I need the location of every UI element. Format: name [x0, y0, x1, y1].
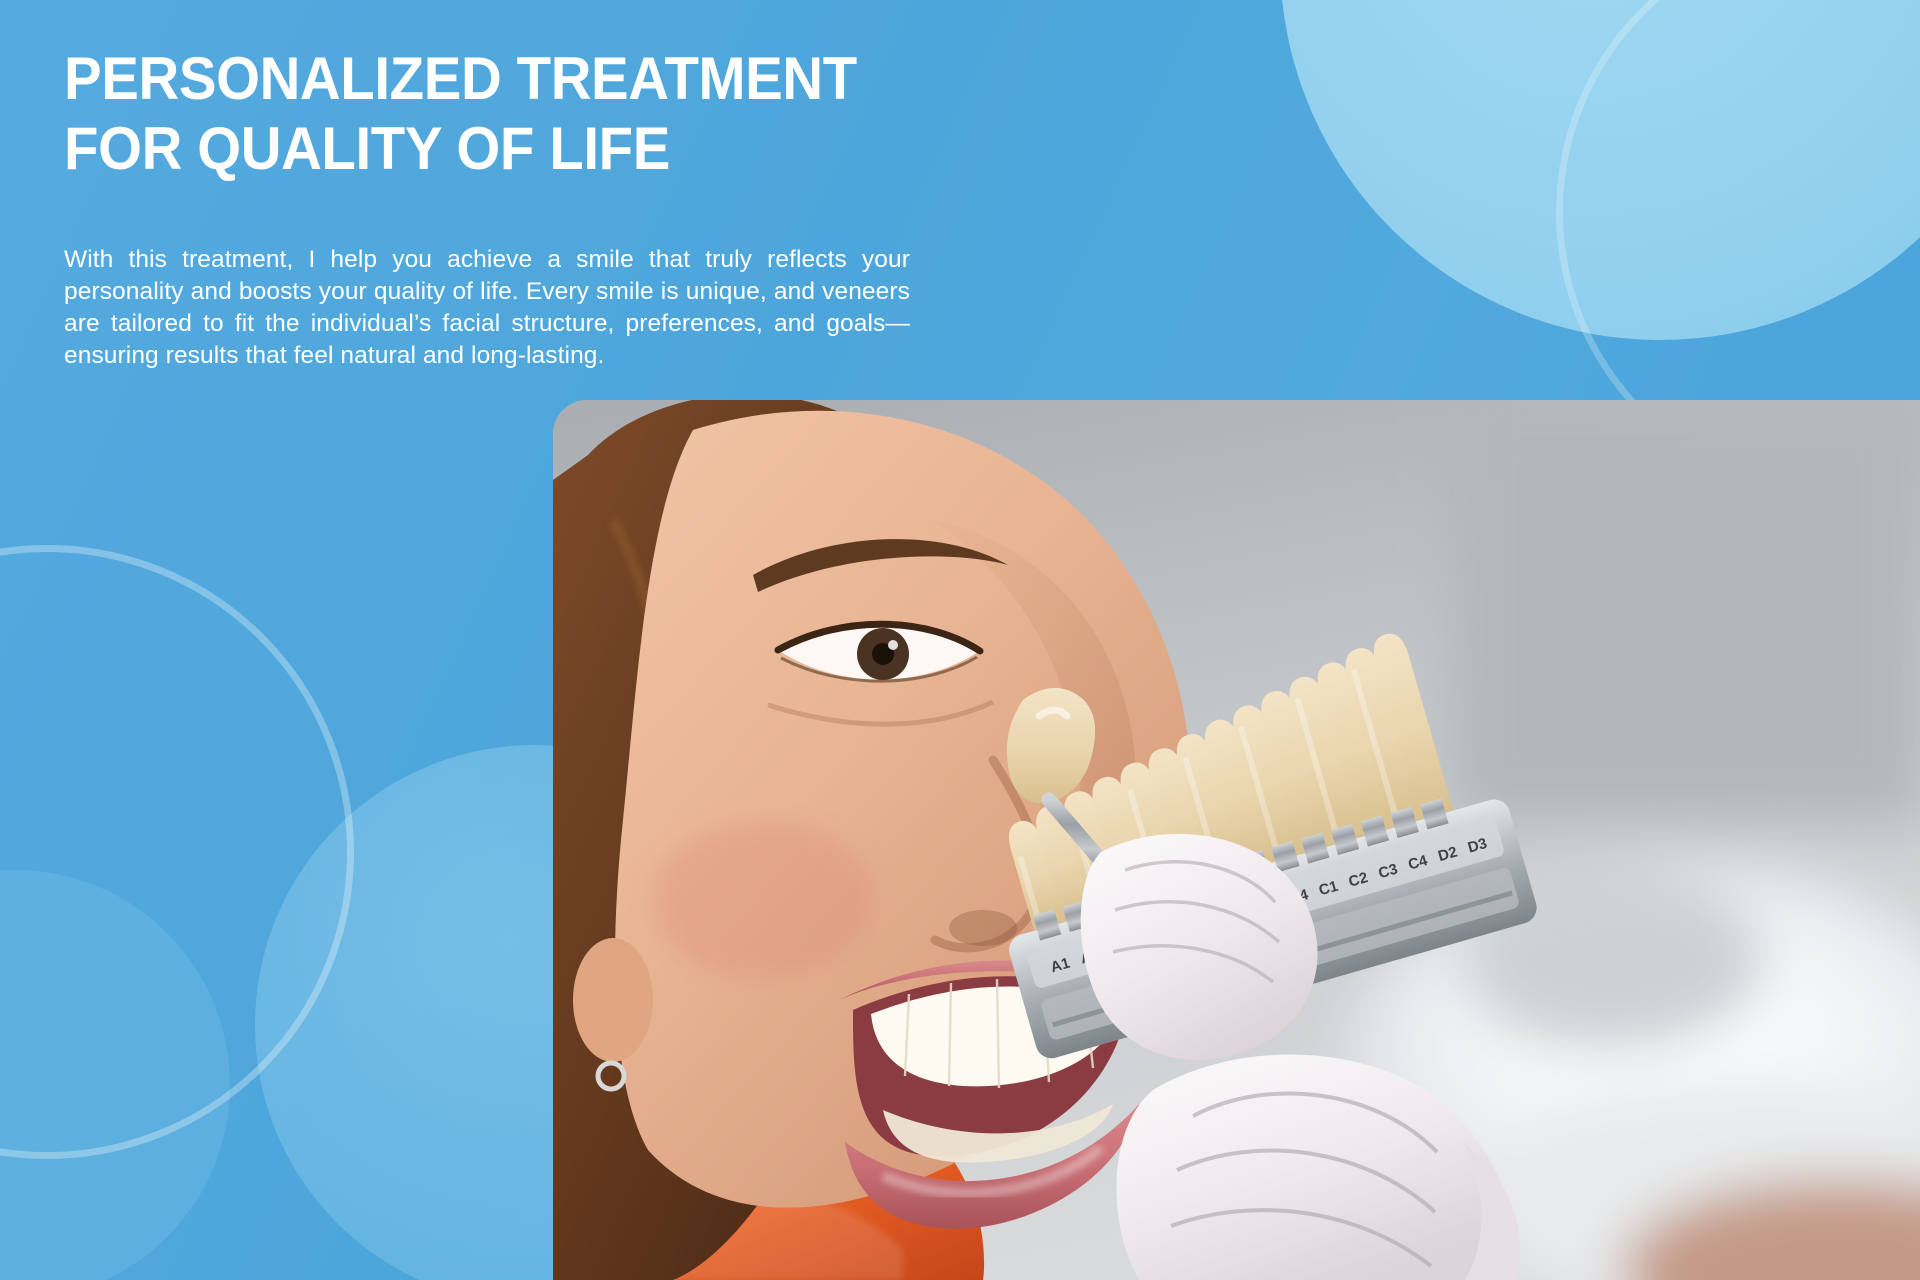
- body-paragraph: With this treatment, I help you achieve …: [64, 184, 910, 371]
- patient-photo-illustration: A1 A2 A3 A3.5 A4 B1 B2 B3 B4 C1 C2 C3: [553, 400, 1920, 1280]
- patient-photo: A1 A2 A3 A3.5 A4 B1 B2 B3 B4 C1 C2 C3: [553, 400, 1920, 1280]
- ear: [573, 938, 653, 1062]
- slide-root: PERSONALIZED TREATMENT FOR QUALITY OF LI…: [0, 0, 1920, 1280]
- text-column: PERSONALIZED TREATMENT FOR QUALITY OF LI…: [64, 44, 910, 372]
- page-title: PERSONALIZED TREATMENT FOR QUALITY OF LI…: [64, 44, 859, 184]
